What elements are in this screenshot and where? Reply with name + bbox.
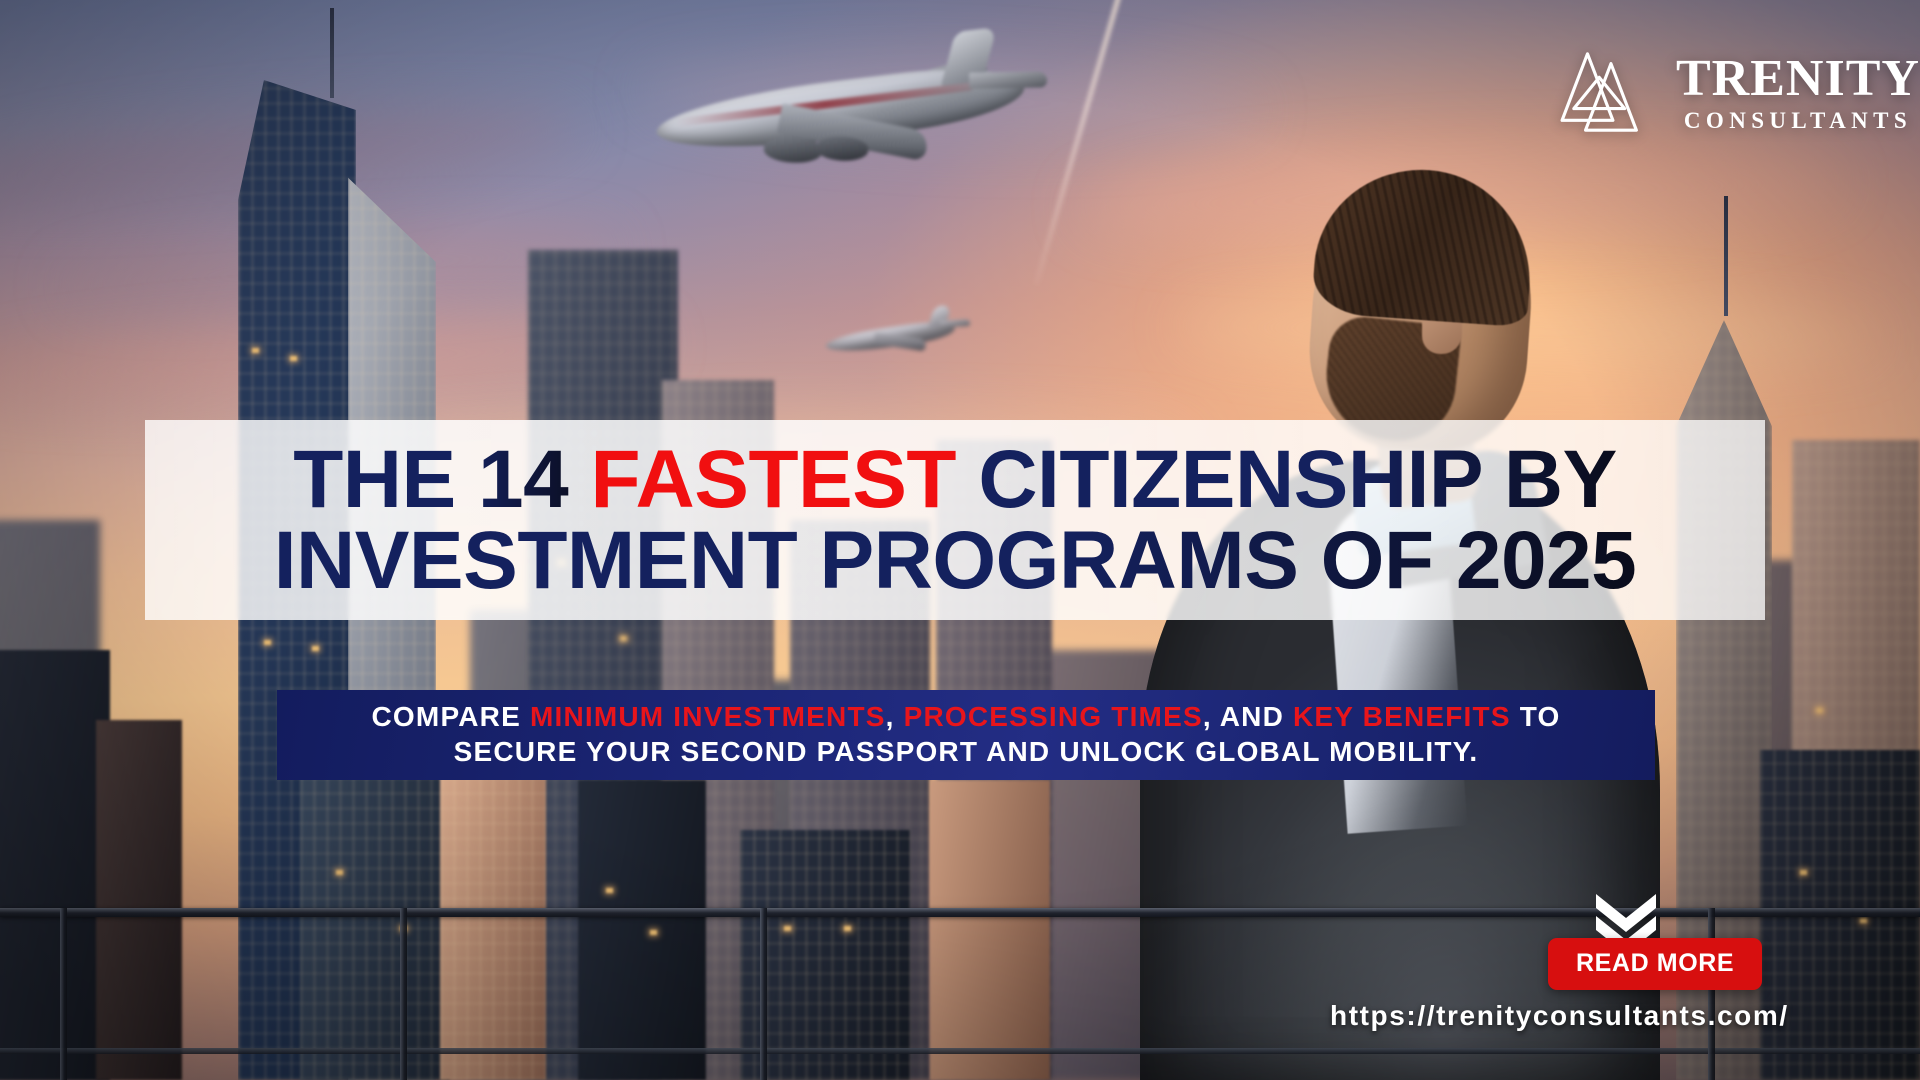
headline-part-1: THE 14 — [293, 434, 590, 525]
brand-wordmark: TRENITY CONSULTANTS — [1676, 53, 1920, 132]
subtitle-line-1: COMPARE MINIMUM INVESTMENTS, PROCESSING … — [372, 700, 1561, 735]
brand-logo[interactable]: TRENITY CONSULTANTS — [1560, 48, 1920, 136]
subtitle-bar: COMPARE MINIMUM INVESTMENTS, PROCESSING … — [277, 690, 1655, 780]
window-light — [1800, 870, 1807, 875]
window-light — [400, 926, 407, 931]
window-light — [1860, 918, 1867, 923]
window-light — [336, 870, 343, 875]
building — [0, 650, 110, 1080]
window-light — [1816, 708, 1823, 713]
brand-name: TRENITY — [1676, 53, 1920, 105]
subtitle-seg-1: COMPARE — [372, 701, 530, 732]
read-more-button[interactable]: READ MORE — [1548, 938, 1762, 990]
tower-spire — [1724, 196, 1728, 316]
building — [740, 830, 910, 1080]
window-light — [264, 640, 271, 645]
hair — [1311, 163, 1537, 328]
window-light — [606, 888, 613, 893]
window-grid — [740, 830, 910, 1080]
subtitle-seg-5: , AND — [1203, 701, 1293, 732]
subtitle-seg-7: TO — [1511, 701, 1561, 732]
window-grid — [300, 750, 450, 1080]
window-light — [844, 926, 851, 931]
window-light — [650, 930, 657, 935]
subtitle-seg-3: , — [886, 701, 904, 732]
building — [578, 780, 706, 1080]
headline-line-2: INVESTMENT PROGRAMS OF 2025 — [274, 520, 1637, 601]
subtitle-seg-2: MINIMUM INVESTMENTS — [530, 701, 886, 732]
headline-line-1: THE 14 FASTEST CITIZENSHIP BY — [293, 439, 1617, 520]
tower-spire — [330, 8, 334, 98]
website-url[interactable]: https://trenityconsultants.com/ — [1330, 1000, 1789, 1032]
headline-highlight: FASTEST — [590, 434, 956, 525]
window-light — [252, 348, 259, 353]
window-light — [290, 356, 297, 361]
page-title: THE 14 FASTEST CITIZENSHIP BY INVESTMENT… — [145, 420, 1765, 620]
headline-part-2: CITIZENSHIP BY — [956, 434, 1617, 525]
window-light — [620, 636, 627, 641]
brand-tagline: CONSULTANTS — [1676, 109, 1920, 132]
triangle-trinity-mark-icon — [1560, 48, 1658, 136]
window-light — [312, 646, 319, 651]
building — [96, 720, 182, 1080]
building — [300, 750, 450, 1080]
subtitle-line-2: SECURE YOUR SECOND PASSPORT AND UNLOCK G… — [454, 735, 1479, 770]
window-light — [784, 926, 791, 931]
subtitle-seg-6: KEY BENEFITS — [1293, 701, 1511, 732]
subtitle-seg-4: PROCESSING TIMES — [904, 701, 1203, 732]
building — [930, 780, 1050, 1080]
promo-banner: TRENITY CONSULTANTS THE 14 FASTEST CITIZ… — [0, 0, 1920, 1080]
